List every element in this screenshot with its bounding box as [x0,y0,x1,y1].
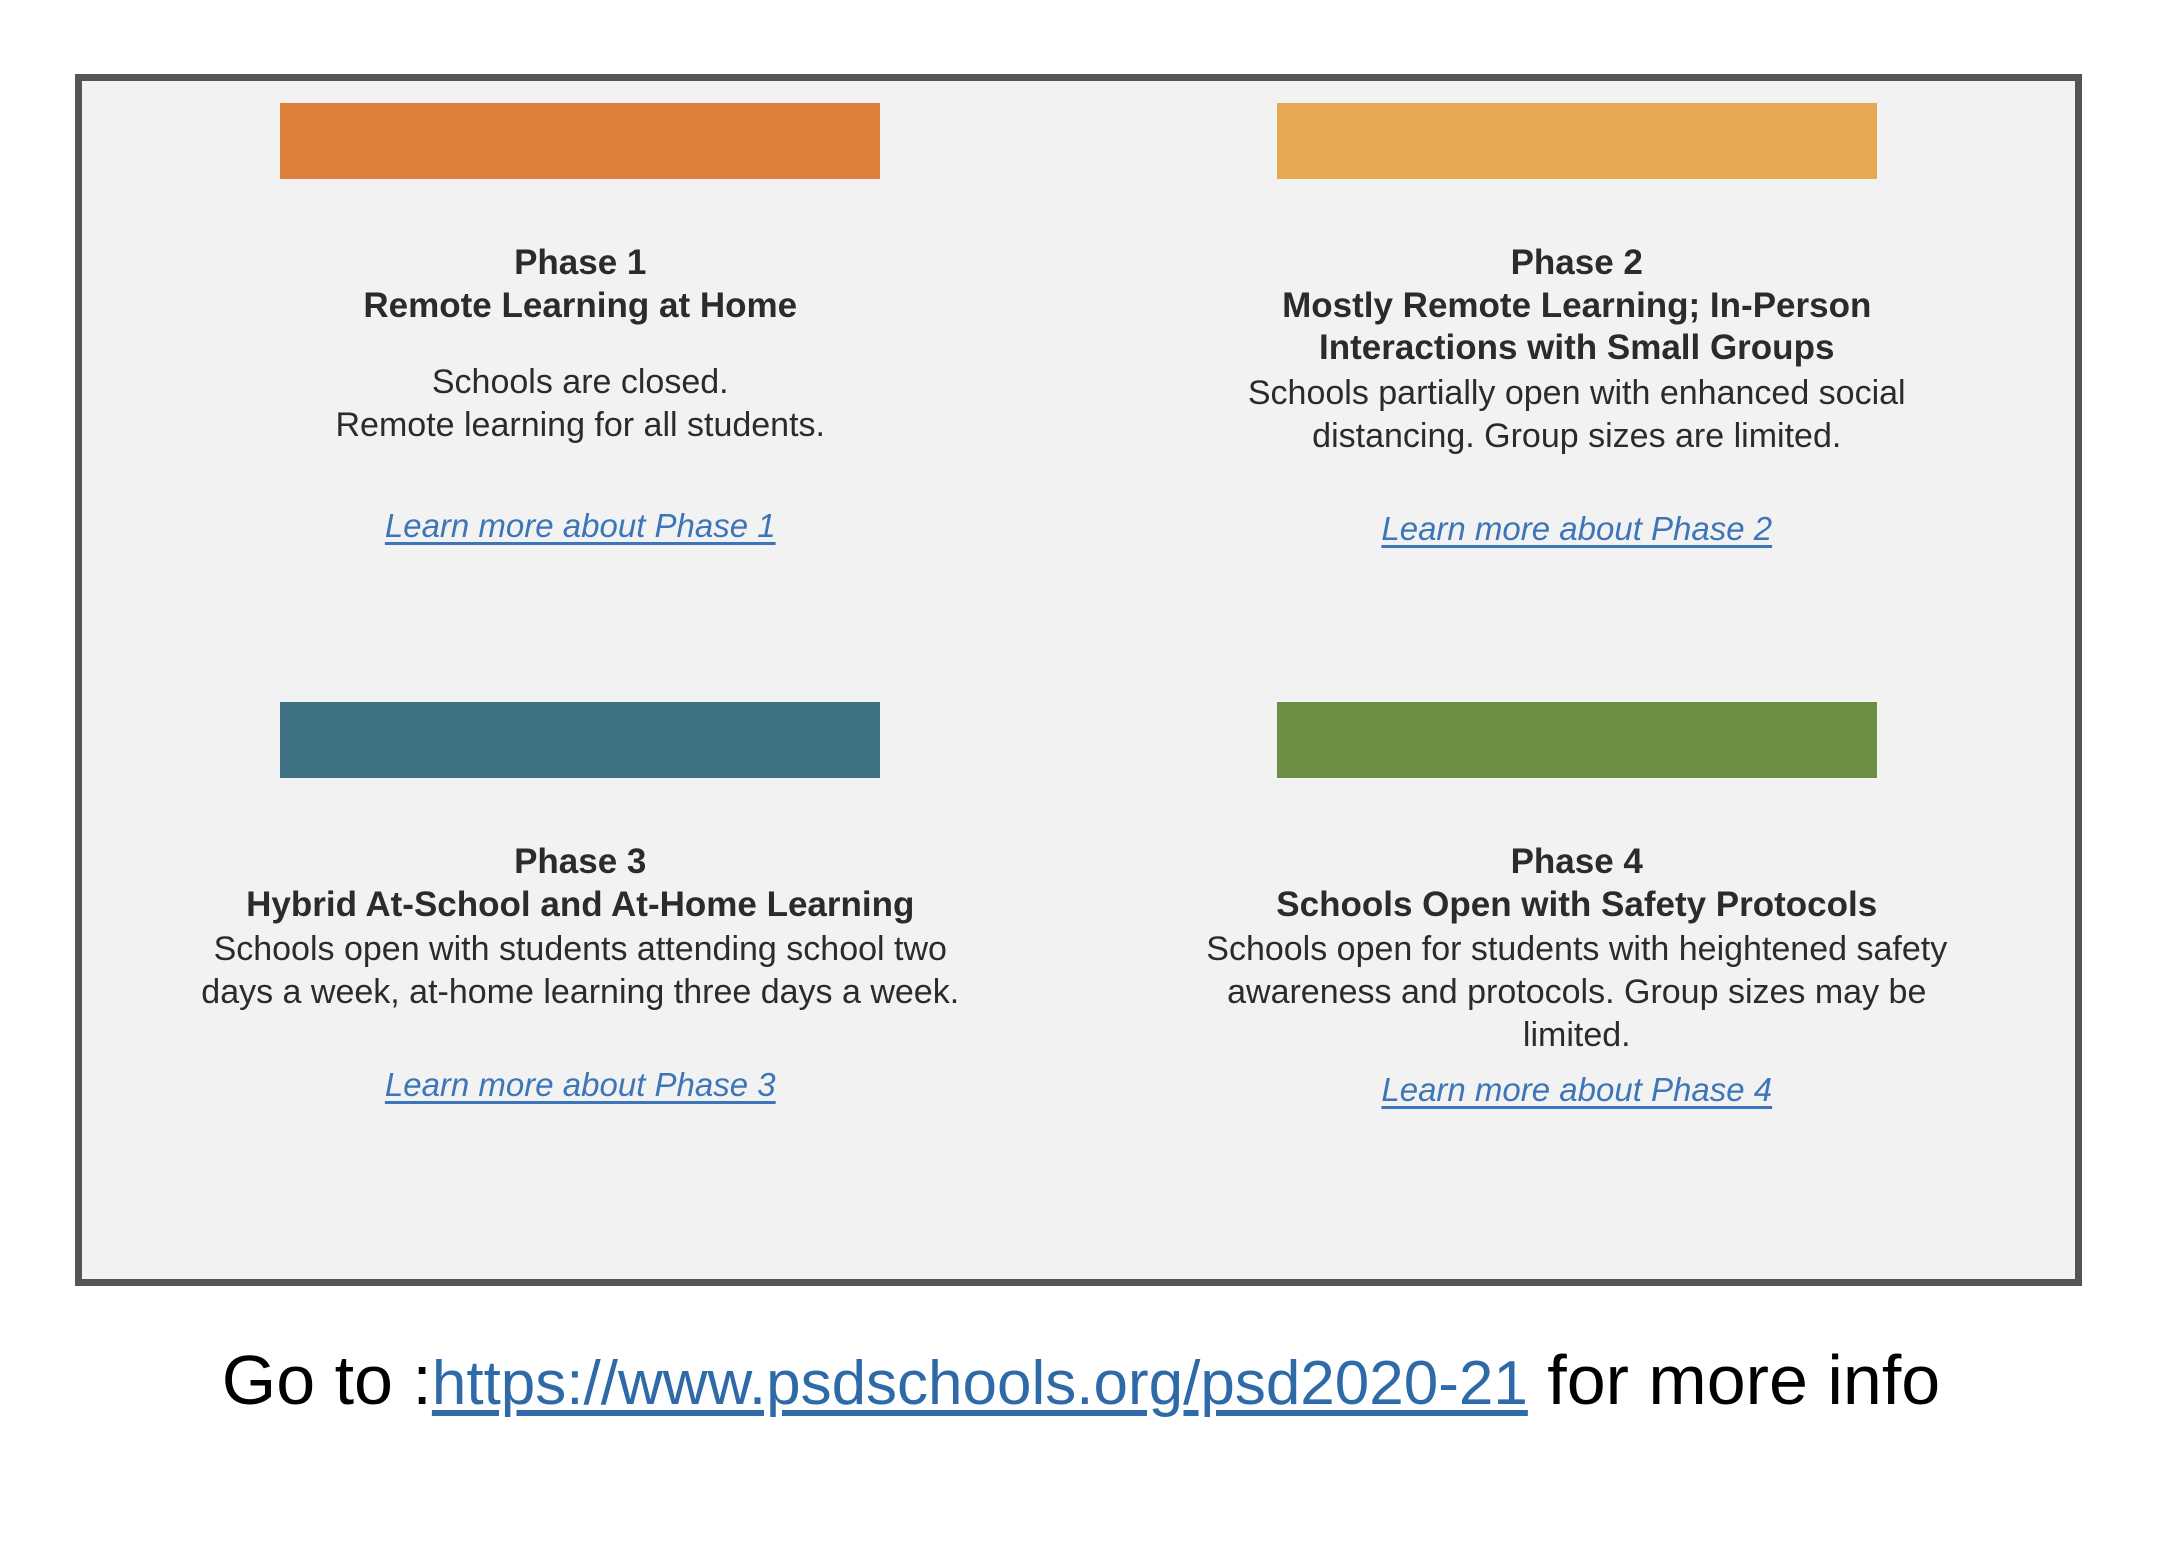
phase-4-desc-line-3: limited. [1108,1014,2045,1057]
phase-2-color-bar [1277,103,1877,179]
phase-2-title-line-1: Mostly Remote Learning; In-Person [1108,285,2045,328]
learn-more-phase-4-link[interactable]: Learn more about Phase 4 [1381,1071,1772,1109]
phase-3-desc-line-1: Schools open with students attending sch… [112,928,1049,971]
phase-card-1: Phase 1 Remote Learning at Home Schools … [82,81,1079,680]
phase-1-number: Phase 1 [112,242,1049,285]
learn-more-phase-1-link[interactable]: Learn more about Phase 1 [385,507,776,545]
phase-4-desc-line-2: awareness and protocols. Group sizes may… [1108,971,2045,1014]
phase-3-title-line-1: Hybrid At-School and At-Home Learning [112,884,1049,927]
phase-card-3: Phase 3 Hybrid At-School and At-Home Lea… [82,680,1079,1279]
phases-panel: Phase 1 Remote Learning at Home Schools … [75,74,2082,1286]
phase-3-link-row: Learn more about Phase 3 [112,1066,1049,1104]
phase-2-number: Phase 2 [1108,242,2045,285]
phase-3-color-bar [280,702,880,778]
phase-4-color-bar [1277,702,1877,778]
phase-card-4: Phase 4 Schools Open with Safety Protoco… [1079,680,2076,1279]
phase-3-desc-line-2: days a week, at-home learning three days… [112,971,1049,1014]
learn-more-phase-2-link[interactable]: Learn more about Phase 2 [1381,510,1772,548]
footer-suffix: for more info [1528,1341,1940,1419]
learn-more-phase-3-link[interactable]: Learn more about Phase 3 [385,1066,776,1104]
phase-1-color-bar [280,103,880,179]
phase-4-desc-line-1: Schools open for students with heightene… [1108,928,2045,971]
phase-2-text: Phase 2 Mostly Remote Learning; In-Perso… [1108,179,2045,548]
phase-2-desc-line-2: distancing. Group sizes are limited. [1108,415,2045,458]
phase-4-text: Phase 4 Schools Open with Safety Protoco… [1108,778,2045,1109]
phase-card-2: Phase 2 Mostly Remote Learning; In-Perso… [1079,81,2076,680]
phase-2-desc-line-1: Schools partially open with enhanced soc… [1108,372,2045,415]
footer-prefix: Go to : [222,1341,432,1419]
phase-1-title-line-1: Remote Learning at Home [112,285,1049,328]
phase-4-title-line-1: Schools Open with Safety Protocols [1108,884,2045,927]
phase-2-title-line-2: Interactions with Small Groups [1108,327,2045,370]
phase-1-desc-line-2: Remote learning for all students. [112,404,1049,447]
phase-grid: Phase 1 Remote Learning at Home Schools … [82,81,2075,1279]
phase-4-number: Phase 4 [1108,841,2045,884]
psd-website-url-link[interactable]: https://www.psdschools.org/psd2020-21 [432,1349,1528,1418]
phase-3-number: Phase 3 [112,841,1049,884]
phase-3-text: Phase 3 Hybrid At-School and At-Home Lea… [112,778,1049,1104]
phase-1-text: Phase 1 Remote Learning at Home Schools … [112,179,1049,545]
phase-4-link-row: Learn more about Phase 4 [1108,1071,2045,1109]
footer-more-info: Go to :https://www.psdschools.org/psd202… [0,1345,2162,1415]
phase-2-link-row: Learn more about Phase 2 [1108,510,2045,548]
phase-1-desc-line-1: Schools are closed. [112,361,1049,404]
phase-1-link-row: Learn more about Phase 1 [112,507,1049,545]
